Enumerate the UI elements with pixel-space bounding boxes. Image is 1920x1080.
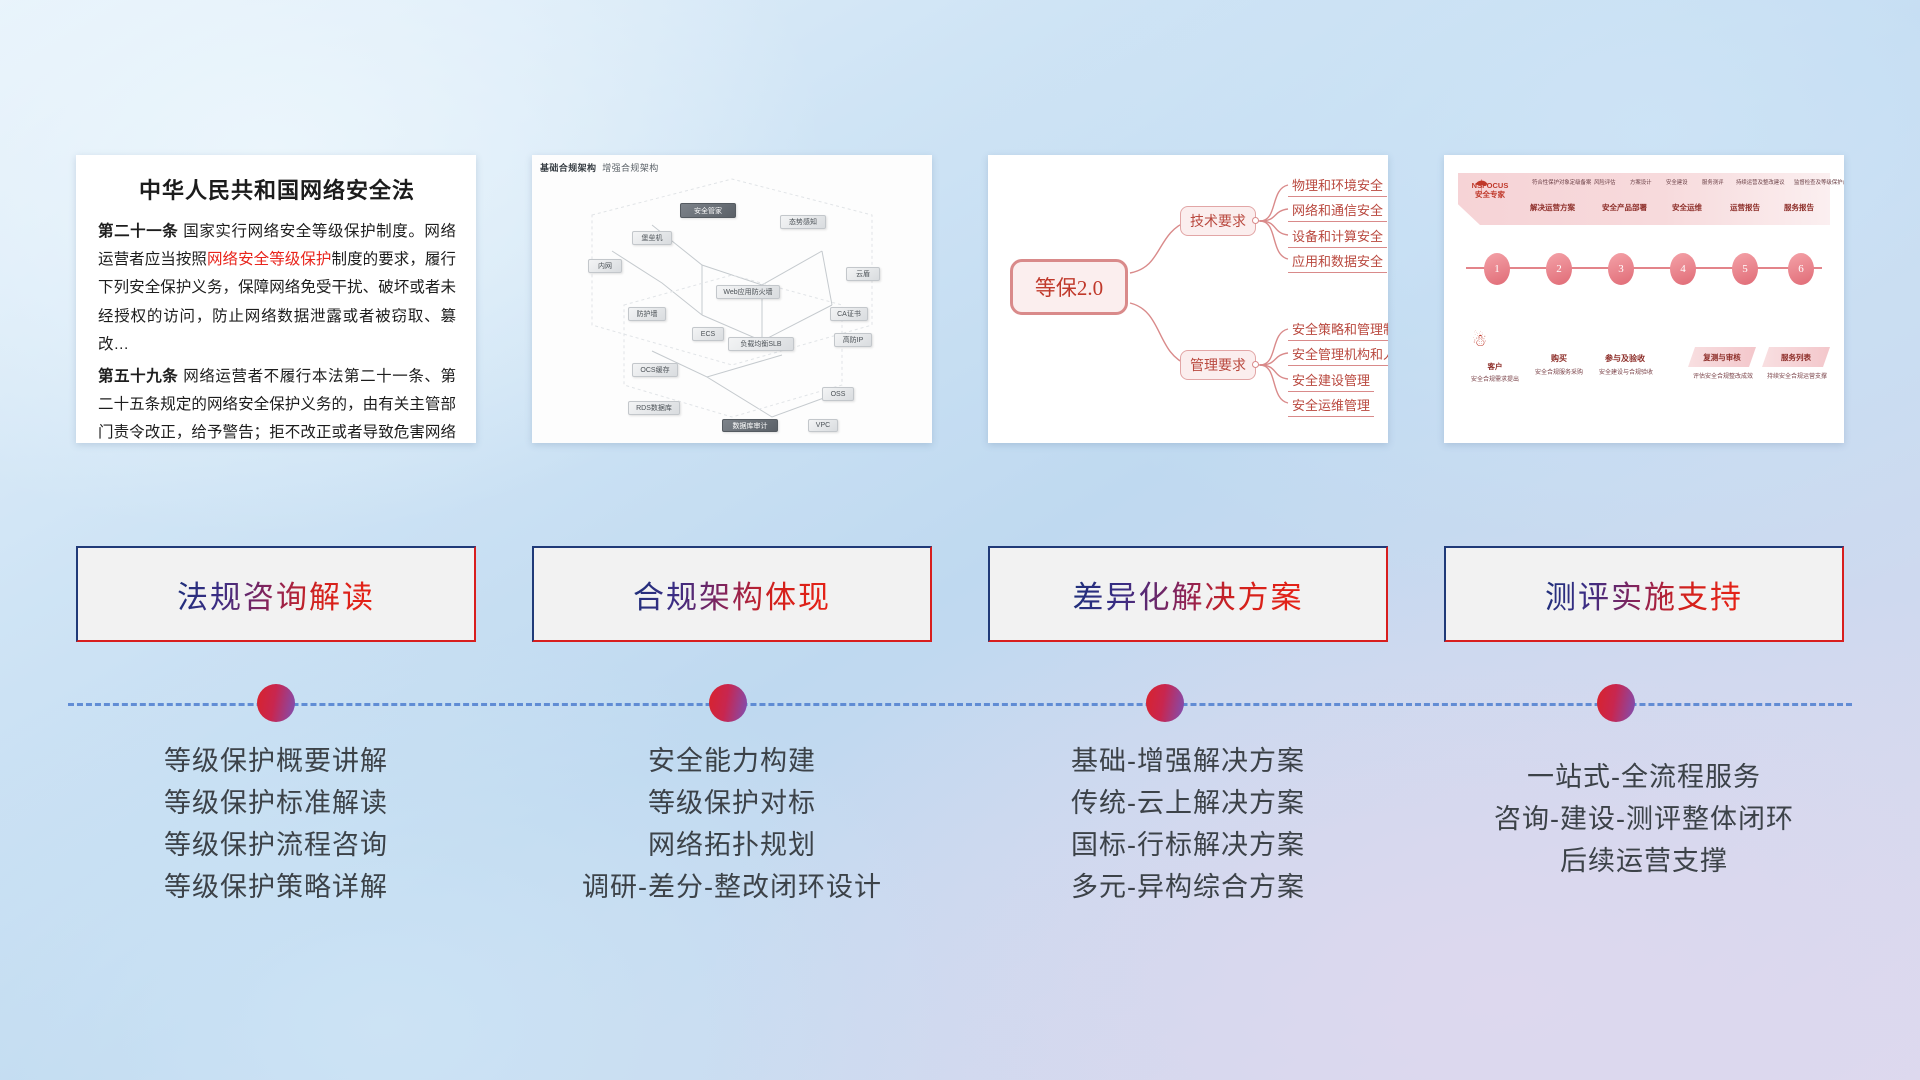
arch-node-firewall: 防护墙: [628, 307, 666, 321]
list-item: 一站式-全流程服务: [1444, 756, 1844, 798]
law-seg-highlight: 网络安全等级保护: [207, 251, 332, 268]
list-item: 调研-差分-整改闭环设计: [532, 866, 932, 908]
list-item: 网络拓扑规划: [532, 824, 932, 866]
law-article-number-2: 第五十九条: [98, 368, 178, 385]
arch-node-situational-awareness: 态势感知: [780, 215, 826, 229]
arch-node-ca-cert: CA证书: [830, 307, 868, 321]
nsfocus-foot-sub: 安全合规服务采购: [1528, 367, 1590, 376]
nsfocus-foot-sub: 安全建设与合规验收: [1588, 367, 1664, 376]
section-header-label: 合规架构体现: [633, 572, 831, 617]
top-card-row: 中华人民共和国网络安全法 第二十一条 国家实行网络安全等级保护制度。网络运营者应…: [0, 155, 1920, 445]
mindmap-root-node: 等保2.0: [1010, 259, 1128, 315]
nsfocus-band-label: 运营报告: [1730, 202, 1760, 213]
card-nsfocus-process[interactable]: ☂ NSFOCUS 安全专家 符合性保护对象定级备案 风险评估 方案设计 安全建…: [1444, 155, 1844, 443]
timeline-dot-2[interactable]: [709, 684, 747, 722]
detail-column-assessment-support: 一站式-全流程服务 咨询-建设-测评整体闭环 后续运营支撑: [1444, 740, 1844, 970]
arch-node-security-steward: 安全管家: [680, 203, 736, 218]
mindmap-leaf: 安全策略和管理制度: [1288, 319, 1388, 341]
nsfocus-step: 4: [1670, 253, 1696, 285]
nsfocus-top-label: 风险评估: [1594, 178, 1616, 186]
section-header-legal-consulting[interactable]: 法规咨询解读: [76, 546, 476, 642]
detail-column-legal-consulting: 等级保护概要讲解 等级保护标准解读 等级保护流程咨询 等级保护策略详解: [76, 740, 476, 970]
law-paragraph-2: 第五十九条 网络运营者不履行本法第二十一条、第二十五条规定的网络安全保护义务的，…: [98, 363, 456, 443]
architecture-connectors: [532, 155, 932, 443]
section-header-row: 法规咨询解读 合规架构体现 差异化解决方案 测评实施支持: [0, 546, 1920, 644]
arch-node-rds: RDS数据库: [628, 401, 680, 415]
arch-node-ocs-cache: OCS缓存: [632, 363, 678, 377]
nsfocus-band-label: 服务报告: [1784, 202, 1814, 213]
list-item: 安全能力构建: [532, 740, 932, 782]
arch-node-waf: Web应用防火墙: [716, 285, 780, 299]
nsfocus-top-label: 监督检查及等级保护合规监管: [1794, 178, 1844, 186]
nsfocus-top-label: 符合性保护对象定级备案: [1532, 178, 1591, 186]
section-header-compliance-architecture[interactable]: 合规架构体现: [532, 546, 932, 642]
mindmap-dot-icon: [1252, 361, 1259, 368]
arch-node-db-audit: 数据库审计: [722, 419, 778, 432]
card-compliance-architecture[interactable]: 基础合规架构 增强合规架构 安全: [532, 155, 932, 443]
nsfocus-top-label: 方案设计: [1630, 178, 1652, 186]
arch-node-ecs: ECS: [692, 327, 724, 341]
nsfocus-foot-sub: 持续安全合规运营支撑: [1756, 371, 1838, 380]
nsfocus-step: 5: [1732, 253, 1758, 285]
nsfocus-step: 3: [1608, 253, 1634, 285]
nsfocus-top-label: 服务测评: [1702, 178, 1724, 186]
nsfocus-band-label: 安全产品部署: [1602, 202, 1647, 213]
law-paragraph-1: 第二十一条 国家实行网络安全等级保护制度。网络运营者应当按照网络安全等级保护制度…: [98, 218, 456, 359]
section-header-label: 测评实施支持: [1545, 572, 1743, 617]
nsfocus-logo: NSFOCUS 安全专家: [1464, 181, 1516, 200]
timeline-dashed-line: [68, 703, 1852, 706]
list-item: 后续运营支撑: [1444, 840, 1844, 882]
nsfocus-logo-line2: 安全专家: [1464, 190, 1516, 199]
nsfocus-band-label: 安全运维: [1672, 202, 1702, 213]
mindmap-leaf: 应用和数据安全: [1288, 251, 1387, 273]
nsfocus-step: 2: [1546, 253, 1572, 285]
section-header-assessment-support[interactable]: 测评实施支持: [1444, 546, 1844, 642]
mindmap-leaf: 安全建设管理: [1288, 370, 1374, 392]
customer-person-icon: ☃: [1472, 331, 1487, 351]
list-item: 等级保护概要讲解: [76, 740, 476, 782]
law-article-number-1: 第二十一条: [98, 223, 178, 240]
timeline-dot-4[interactable]: [1597, 684, 1635, 722]
section-header-label: 差异化解决方案: [1073, 572, 1304, 617]
arch-node-slb: 负载均衡SLB: [728, 337, 794, 351]
arch-node-cloud-shield: 云盾: [846, 267, 880, 281]
nsfocus-customer-title: 客户: [1466, 361, 1524, 372]
nsfocus-step: 1: [1484, 253, 1510, 285]
detail-columns: 等级保护概要讲解 等级保护标准解读 等级保护流程咨询 等级保护策略详解 安全能力…: [0, 740, 1920, 970]
detail-column-compliance-architecture: 安全能力构建 等级保护对标 网络拓扑规划 调研-差分-整改闭环设计: [532, 740, 932, 970]
nsfocus-chip: 复测与审核: [1688, 347, 1756, 367]
list-item: 等级保护对标: [532, 782, 932, 824]
list-item: 咨询-建设-测评整体闭环: [1444, 798, 1844, 840]
nsfocus-foot-title: 参与及验收: [1594, 353, 1656, 364]
mindmap-leaf: 安全管理机构和人员: [1288, 344, 1388, 366]
arch-node-oss: OSS: [822, 387, 854, 401]
architecture-canvas: 安全管家 堡垒机 内网 态势感知 Web应用防火墙 云盾 防护墙 ECS 负载均…: [532, 155, 932, 443]
nsfocus-chip: 服务列表: [1762, 347, 1830, 367]
mindmap-dot-icon: [1252, 217, 1259, 224]
section-header-label: 法规咨询解读: [177, 572, 375, 617]
section-header-differentiated-solution[interactable]: 差异化解决方案: [988, 546, 1388, 642]
mindmap-branch-technical: 技术要求: [1180, 206, 1256, 236]
timeline-dot-1[interactable]: [257, 684, 295, 722]
arch-node-bastion: 堡垒机: [632, 231, 672, 245]
mindmap-leaf: 设备和计算安全: [1288, 226, 1387, 248]
list-item: 等级保护策略详解: [76, 866, 476, 908]
mindmap-leaf: 网络和通信安全: [1288, 200, 1387, 222]
nsfocus-canvas: ☂ NSFOCUS 安全专家 符合性保护对象定级备案 风险评估 方案设计 安全建…: [1444, 155, 1844, 443]
list-item: 国标-行标解决方案: [988, 824, 1388, 866]
nsfocus-logo-line1: NSFOCUS: [1464, 181, 1516, 190]
card-cybersecurity-law[interactable]: 中华人民共和国网络安全法 第二十一条 国家实行网络安全等级保护制度。网络运营者应…: [76, 155, 476, 443]
mindmap-leaf: 物理和环境安全: [1288, 175, 1387, 197]
timeline-dot-3[interactable]: [1146, 684, 1184, 722]
nsfocus-step: 6: [1788, 253, 1814, 285]
list-item: 等级保护流程咨询: [76, 824, 476, 866]
nsfocus-foot-title: 购买: [1536, 353, 1582, 364]
mindmap-leaf: 安全运维管理: [1288, 395, 1374, 417]
list-item: 等级保护标准解读: [76, 782, 476, 824]
mindmap-branch-management: 管理要求: [1180, 350, 1256, 380]
law-title: 中华人民共和国网络安全法: [98, 173, 456, 205]
arch-node-anti-ddos: 高防IP: [834, 333, 872, 347]
detail-column-differentiated-solution: 基础-增强解决方案 传统-云上解决方案 国标-行标解决方案 多元-异构综合方案: [988, 740, 1388, 970]
nsfocus-customer-sub: 安全合规需求提出: [1458, 374, 1532, 383]
card-mindmap-dengbao[interactable]: 等保2.0 技术要求 物理和环境安全 网络和通信安全 设备和计算安全 应用和数据…: [988, 155, 1388, 443]
list-item: 基础-增强解决方案: [988, 740, 1388, 782]
nsfocus-top-label: 安全建设: [1666, 178, 1688, 186]
mindmap-canvas: 等保2.0 技术要求 物理和环境安全 网络和通信安全 设备和计算安全 应用和数据…: [988, 155, 1388, 443]
arch-node-intranet: 内网: [588, 259, 622, 273]
list-item: 传统-云上解决方案: [988, 782, 1388, 824]
list-item: 多元-异构综合方案: [988, 866, 1388, 908]
arch-node-vpc: VPC: [808, 419, 838, 432]
nsfocus-axis-line: [1466, 267, 1822, 269]
timeline: [0, 684, 1920, 724]
nsfocus-top-label: 持续运营及整改建议: [1736, 178, 1785, 186]
nsfocus-foot-sub: 评估安全合规整改成效: [1682, 371, 1764, 380]
nsfocus-band-label: 解决运营方案: [1530, 202, 1575, 213]
